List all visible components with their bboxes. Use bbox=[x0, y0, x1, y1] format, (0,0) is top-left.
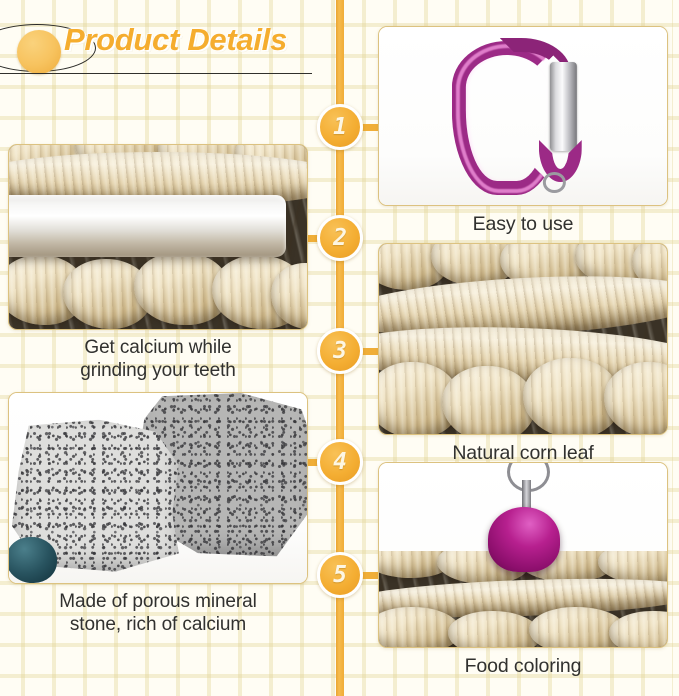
panel-porous-mineral-stone[interactable]: Made of porous mineral stone, rich of ca… bbox=[8, 392, 308, 637]
title-circle-bullet-icon bbox=[17, 30, 61, 74]
carabiner-clip-icon bbox=[441, 38, 620, 198]
weave-lobe bbox=[448, 611, 540, 647]
panel-get-calcium[interactable]: Get calcium while grinding your teeth bbox=[8, 144, 308, 383]
step-marker-3[interactable]: 3 bbox=[317, 328, 363, 374]
infographic-page: Product Details 1 2 3 4 5 bbox=[0, 0, 679, 696]
image-easy-to-use bbox=[378, 26, 668, 206]
panel-natural-corn-leaf[interactable]: Natural corn leaf bbox=[378, 243, 668, 464]
caption-get-calcium: Get calcium while grinding your teeth bbox=[8, 337, 308, 383]
step-number-3: 3 bbox=[333, 338, 347, 364]
corn-leaf-weave-texture bbox=[9, 145, 307, 329]
step-marker-5[interactable]: 5 bbox=[317, 552, 363, 598]
calcium-block bbox=[9, 195, 286, 258]
image-natural-corn-leaf bbox=[378, 243, 668, 435]
caption-line-2: grinding your teeth bbox=[8, 360, 308, 383]
weave-lobe bbox=[609, 611, 667, 647]
page-title: Product Details bbox=[64, 22, 287, 58]
caption-line-1: Made of porous mineral bbox=[8, 591, 308, 614]
teal-bead bbox=[8, 537, 57, 583]
step-marker-4[interactable]: 4 bbox=[317, 439, 363, 485]
magenta-colored-bead bbox=[488, 507, 560, 571]
corn-leaf-weave-texture bbox=[379, 244, 667, 434]
carabiner-gate-sleeve bbox=[550, 62, 577, 152]
panel-easy-to-use[interactable]: Easy to use bbox=[378, 26, 668, 235]
step-marker-2[interactable]: 2 bbox=[317, 215, 363, 261]
page-title-block: Product Details bbox=[0, 18, 332, 78]
caption-line-1: Get calcium while bbox=[8, 337, 308, 360]
step-marker-1[interactable]: 1 bbox=[317, 104, 363, 150]
caption-easy-to-use: Easy to use bbox=[378, 213, 668, 235]
image-get-calcium bbox=[8, 144, 308, 330]
panel-food-coloring[interactable]: Food coloring bbox=[378, 462, 668, 677]
caption-food-coloring: Food coloring bbox=[378, 655, 668, 677]
carabiner-split-ring bbox=[543, 172, 566, 193]
caption-line-2: stone, rich of calcium bbox=[8, 614, 308, 637]
title-underline bbox=[0, 73, 312, 74]
step-number-1: 1 bbox=[333, 114, 347, 140]
image-food-coloring bbox=[378, 462, 668, 648]
image-porous-mineral-stone bbox=[8, 392, 308, 584]
step-number-2: 2 bbox=[333, 225, 347, 251]
step-number-4: 4 bbox=[333, 449, 347, 475]
caption-porous-mineral-stone: Made of porous mineral stone, rich of ca… bbox=[8, 591, 308, 637]
step-number-5: 5 bbox=[333, 562, 347, 588]
